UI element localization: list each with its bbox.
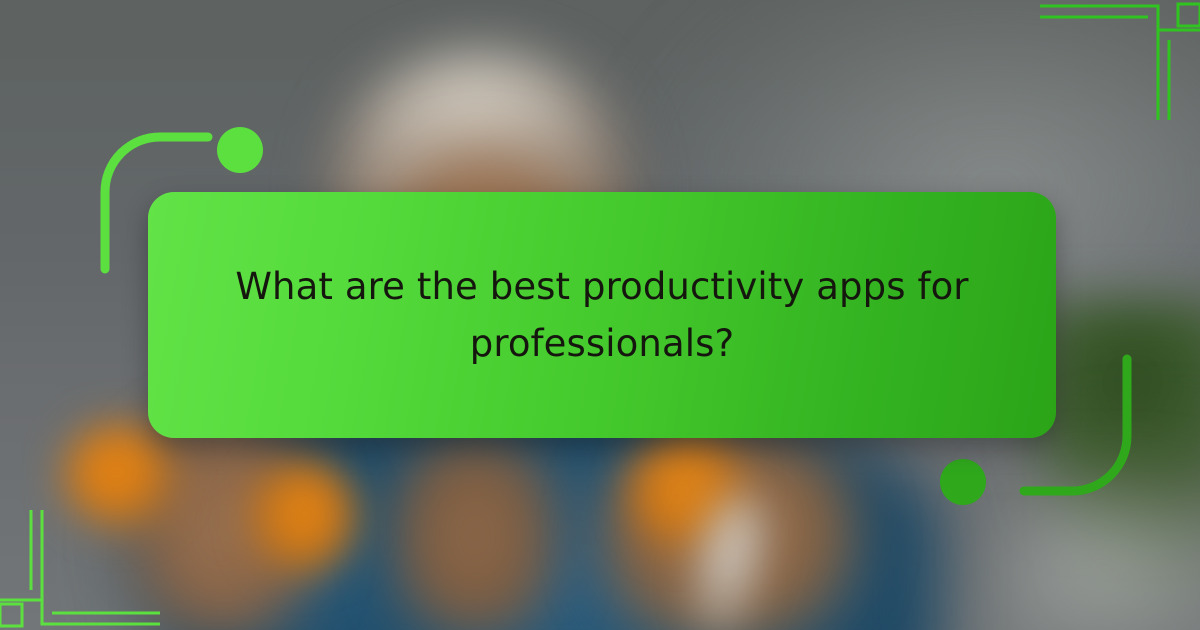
accent-circle-top-left [217,127,263,173]
accent-circle-bottom-right [940,459,986,505]
question-card: What are the best productivity apps for … [148,192,1056,438]
background-person-forearm [390,430,560,630]
share-card-canvas: What are the best productivity apps for … [0,0,1200,630]
question-title: What are the best productivity apps for … [202,258,1002,373]
background-floor [1000,470,1200,630]
background-dumbbell-center [252,462,360,574]
background-dumbbell-left [64,424,176,530]
